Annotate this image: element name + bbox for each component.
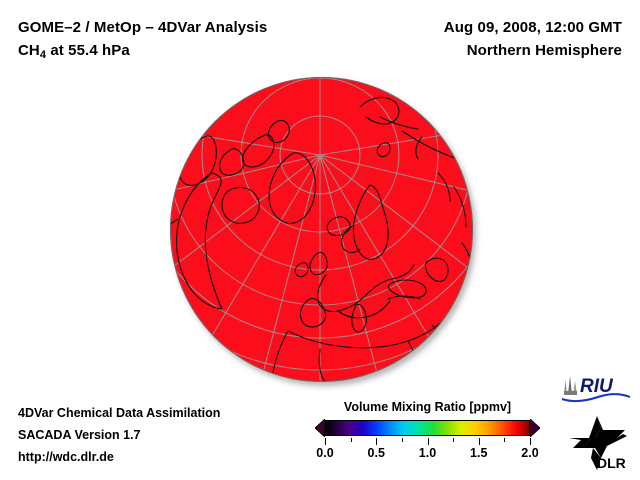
colorbar-row — [315, 418, 540, 438]
globe-map — [170, 77, 473, 382]
coastlines — [170, 97, 473, 382]
riu-logo: RIU — [560, 372, 632, 404]
header-right: Aug 09, 2008, 12:00 GMT Northern Hemisph… — [444, 16, 622, 62]
species-suffix: at 55.4 hPa — [46, 42, 130, 59]
dlr-logo: DLR — [567, 414, 631, 472]
graticule-meridians — [170, 77, 473, 382]
footer-credits: 4DVar Chemical Data Assimilation SACADA … — [18, 402, 220, 468]
colorbar-tick-label: 2.0 — [521, 446, 538, 460]
footer-line-method: 4DVar Chemical Data Assimilation — [18, 402, 220, 424]
figure-title: GOME–2 / MetOp – 4DVar Analysis — [18, 16, 267, 39]
colorbar-ticks — [325, 438, 530, 445]
footer-line-version: SACADA Version 1.7 — [18, 424, 220, 446]
colorbar-title: Volume Mixing Ratio [ppmv] — [315, 400, 540, 414]
header-left: GOME–2 / MetOp – 4DVar Analysis CH4 at 5… — [18, 16, 267, 67]
species-level-label: CH4 at 55.4 hPa — [18, 39, 267, 67]
timestamp-label: Aug 09, 2008, 12:00 GMT — [444, 16, 622, 39]
globe-vector-layer — [170, 77, 473, 382]
colorbar-extend-right-icon — [530, 419, 540, 437]
colorbar-tick-label: 0.5 — [368, 446, 385, 460]
riu-towers-icon — [564, 376, 577, 395]
colorbar-tick-label: 1.5 — [470, 446, 487, 460]
figure-canvas: GOME–2 / MetOp – 4DVar Analysis CH4 at 5… — [0, 0, 640, 480]
colorbar-gradient — [325, 420, 530, 436]
graticule-latitudes — [170, 77, 473, 370]
footer-line-url: http://wdc.dlr.de — [18, 446, 220, 468]
dlr-wordmark: DLR — [597, 455, 626, 471]
region-label: Northern Hemisphere — [444, 39, 622, 62]
colorbar: Volume Mixing Ratio [ppmv] 0.0 0.5 1.0 — [315, 400, 540, 462]
colorbar-tick-labels: 0.0 0.5 1.0 1.5 2.0 — [325, 446, 530, 462]
colorbar-tick-label: 1.0 — [419, 446, 436, 460]
colorbar-extend-left-icon — [315, 419, 325, 437]
species-prefix: CH — [18, 42, 40, 59]
colorbar-tick-label: 0.0 — [316, 446, 333, 460]
globe-disc — [170, 77, 473, 382]
